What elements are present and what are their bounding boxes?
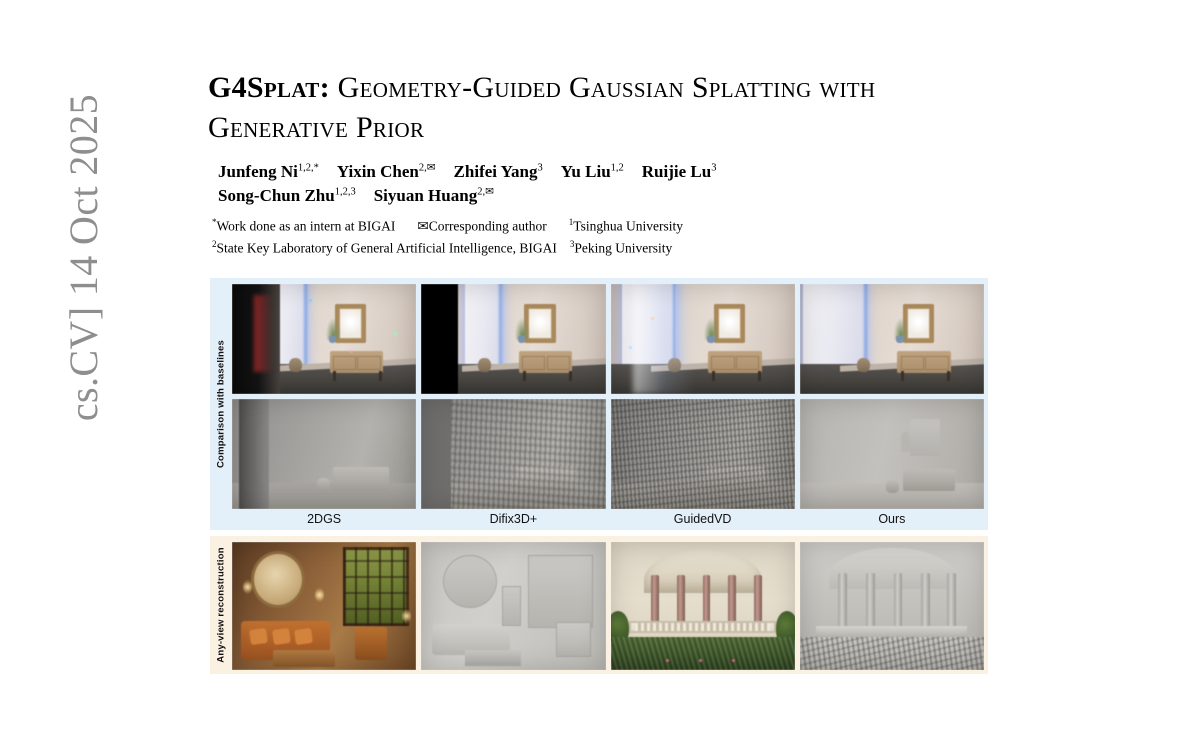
arxiv-stamp: cs.CV] 14 Oct 2025 <box>58 94 110 754</box>
author: Yixin Chen2,✉ <box>337 162 436 181</box>
author: Junfeng Ni1,2,* <box>218 162 319 181</box>
affiliation-line-1: *Work done as an intern at BIGAI✉Corresp… <box>212 215 1002 237</box>
author: Song-Chun Zhu1,2,3 <box>218 186 356 205</box>
anyview-block: Any-view reconstruction <box>210 536 988 674</box>
caption-2dgs: 2DGS <box>232 512 416 526</box>
panel-interior-rgb <box>232 542 416 670</box>
caption-ours: Ours <box>800 512 984 526</box>
paper-page: cs.CV] 14 Oct 2025 G4Splat: Geometry-Gui… <box>0 0 1200 648</box>
panel-ours-geometry <box>800 399 984 509</box>
panel-guidedvd-rgb <box>611 284 795 394</box>
envelope-icon: ✉ <box>427 162 436 173</box>
panel-difix3d-geometry <box>421 399 605 509</box>
comparison-geometry-row <box>232 399 984 509</box>
corresponding-note: Corresponding author <box>429 219 547 234</box>
panel-guidedvd-geometry <box>611 399 795 509</box>
author-line-2: Song-Chun Zhu1,2,3Siyuan Huang2,✉ <box>218 184 1008 208</box>
panel-building-geometry <box>800 542 984 670</box>
anyview-row <box>232 542 984 670</box>
author: Yu Liu1,2 <box>561 162 624 181</box>
affiliations: *Work done as an intern at BIGAI✉Corresp… <box>212 215 1002 259</box>
envelope-icon: ✉ <box>417 219 428 234</box>
title-lead: G4Splat: <box>208 71 330 104</box>
panel-difix3d-rgb <box>421 284 605 394</box>
affiliation-line-2: 2State Key Laboratory of General Artific… <box>212 237 1002 259</box>
page-title: G4Splat: Geometry-Guided Gaussian Splatt… <box>208 68 998 148</box>
comparison-block: Comparison with baselines <box>210 278 988 530</box>
author-line-1: Junfeng Ni1,2,*Yixin Chen2,✉Zhifei Yang3… <box>218 160 1008 184</box>
comparison-row-label: Comparison with baselines <box>210 278 232 530</box>
teaser-figure: Comparison with baselines <box>210 278 988 674</box>
panel-ours-rgb <box>800 284 984 394</box>
author-list: Junfeng Ni1,2,*Yixin Chen2,✉Zhifei Yang3… <box>218 160 1008 208</box>
author: Zhifei Yang3 <box>454 162 543 181</box>
author: Siyuan Huang2,✉ <box>374 186 494 205</box>
caption-difix3d: Difix3D+ <box>421 512 605 526</box>
anyview-row-label: Any-view reconstruction <box>210 536 232 674</box>
panel-interior-geometry <box>421 542 605 670</box>
panel-building-rgb <box>611 542 795 670</box>
panel-2dgs-geometry <box>232 399 416 509</box>
affiliation-name: Peking University <box>574 240 672 255</box>
panel-2dgs-rgb <box>232 284 416 394</box>
envelope-icon: ✉ <box>485 186 494 197</box>
author: Ruijie Lu3 <box>642 162 717 181</box>
intern-note: Work done as an intern at BIGAI <box>217 219 396 234</box>
column-captions: 2DGS Difix3D+ GuidedVD Ours <box>232 512 984 526</box>
affiliation-name: State Key Laboratory of General Artifici… <box>217 240 557 255</box>
caption-guidedvd: GuidedVD <box>611 512 795 526</box>
affiliation-name: Tsinghua University <box>573 219 683 234</box>
comparison-rgb-row <box>232 284 984 394</box>
